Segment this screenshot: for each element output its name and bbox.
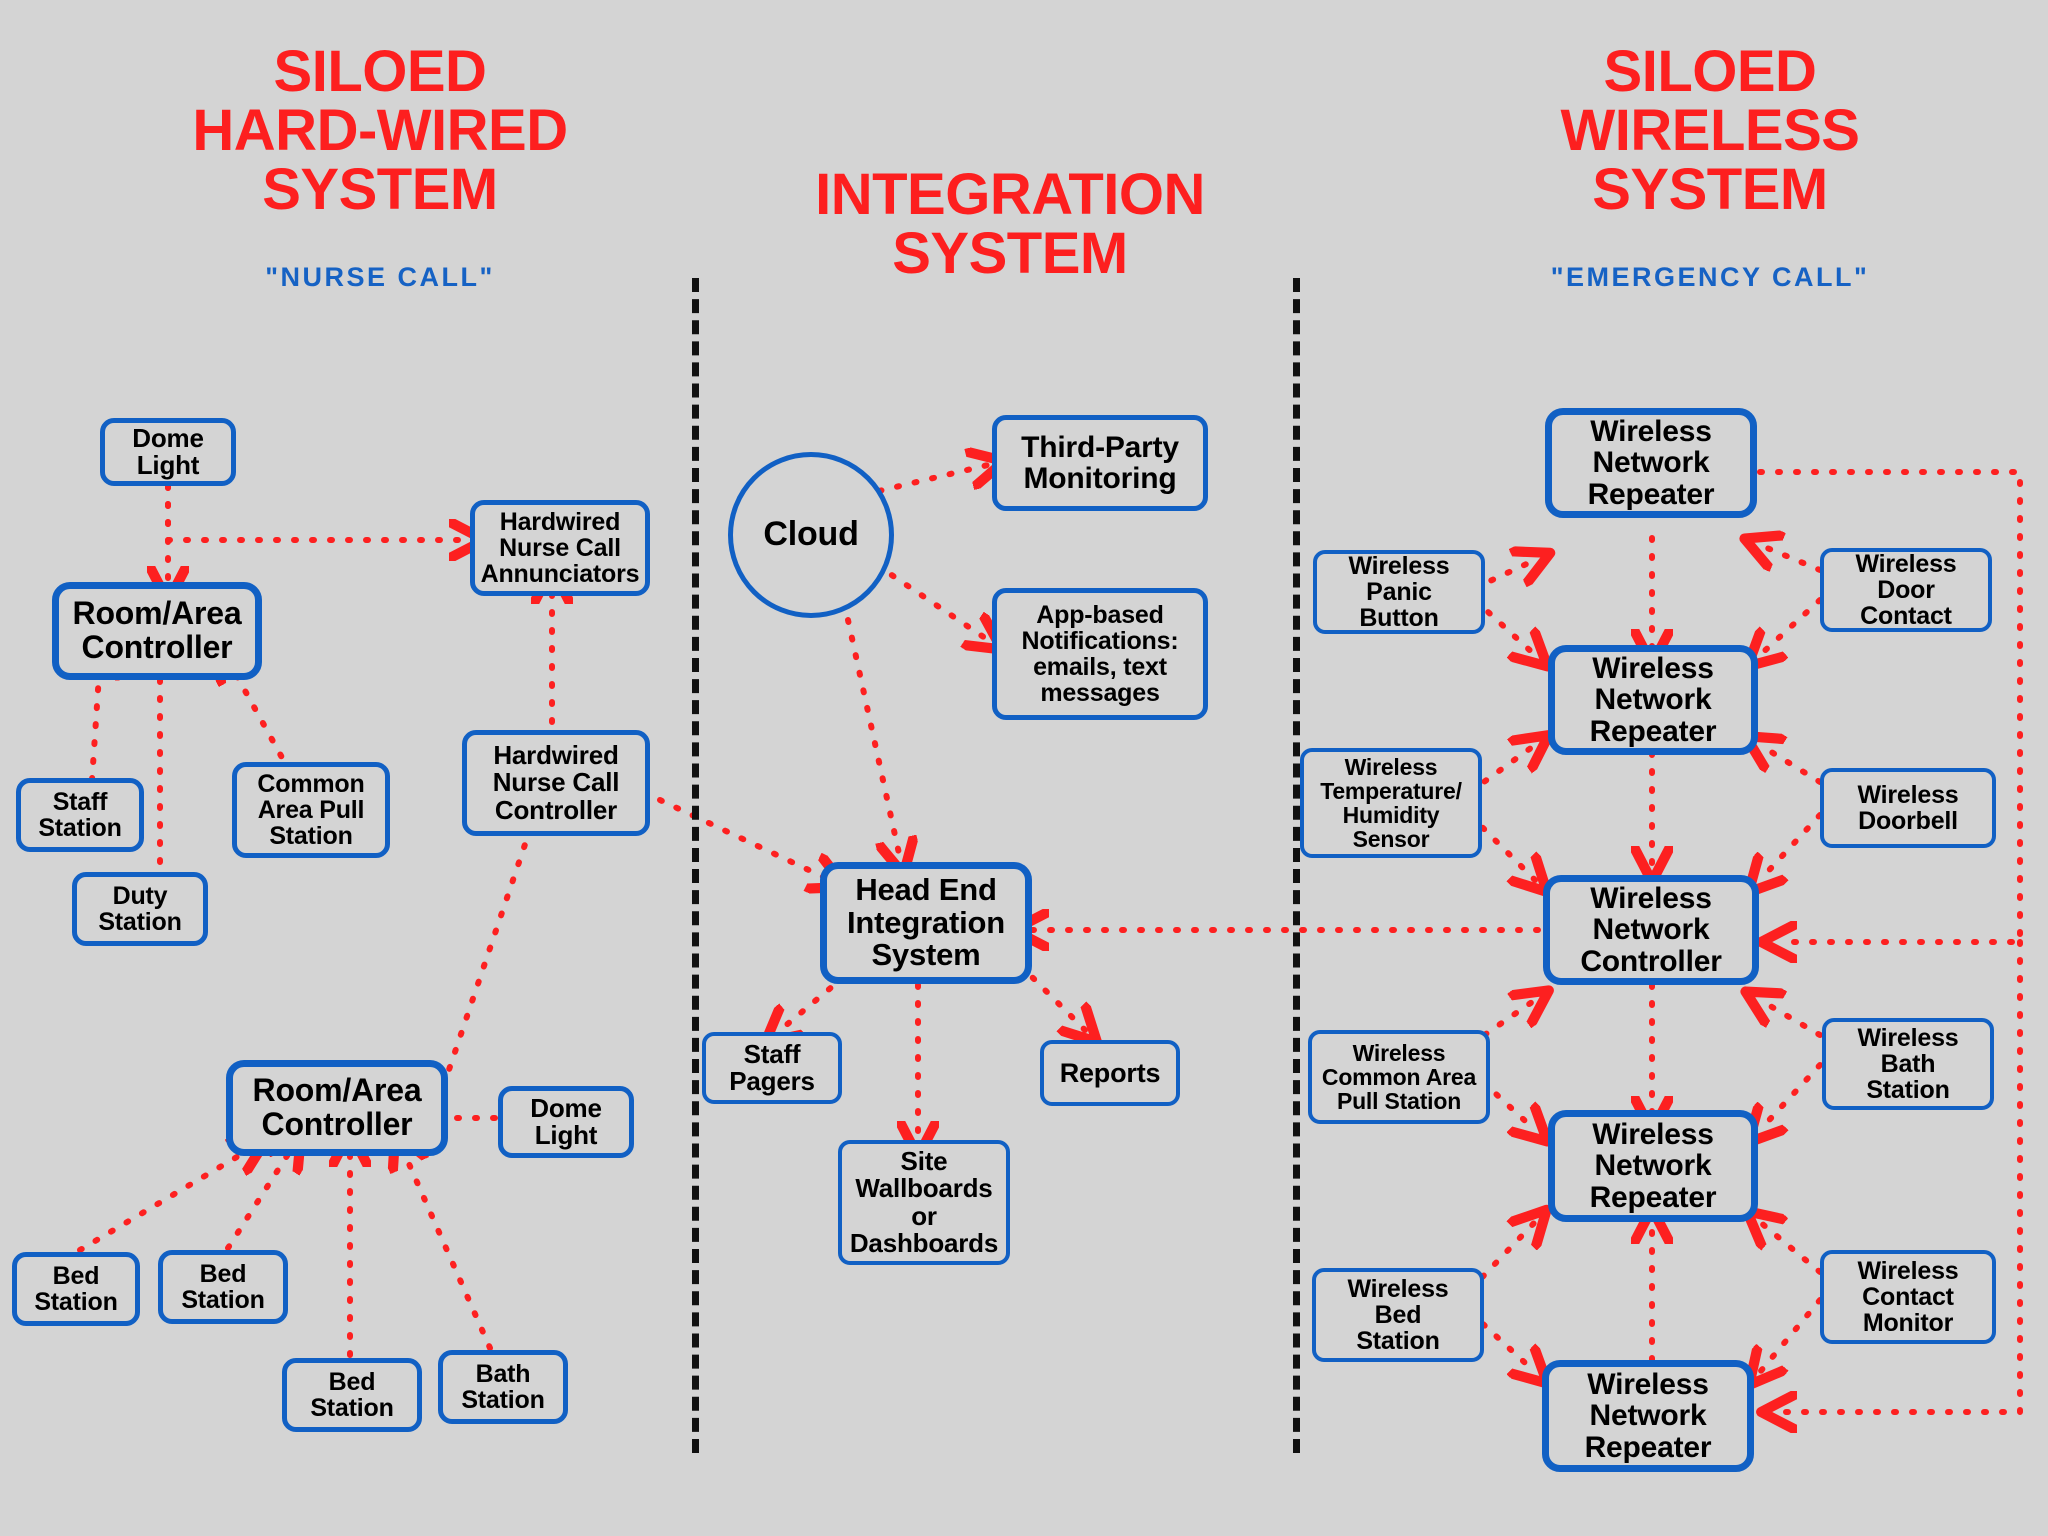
- node-staff-pagers[interactable]: Staff Pagers: [702, 1032, 842, 1104]
- node-reports[interactable]: Reports: [1040, 1040, 1180, 1106]
- wire-loop-repeater1-right: [1760, 472, 2020, 942]
- wire-racbottom-to-hwcontroller: [432, 800, 540, 1120]
- heading-right-system: SILOED WIRELESS SYSTEM: [1410, 42, 2010, 219]
- wire-door-to-repeater2: [1760, 600, 1820, 655]
- node-bed-station-3[interactable]: Bed Station: [282, 1358, 422, 1432]
- node-bed-station-2[interactable]: Bed Station: [158, 1250, 288, 1324]
- node-bath-station[interactable]: Bath Station: [438, 1350, 568, 1424]
- heading-center-system: INTEGRATION SYSTEM: [710, 165, 1310, 283]
- subheading-left-system: "NURSE CALL": [80, 262, 680, 293]
- node-site-wallboards-or-dashboards[interactable]: Site Wallboards or Dashboards: [838, 1140, 1010, 1265]
- node-wireless-temperature-humidity-sensor[interactable]: Wireless Temperature/ Humidity Sensor: [1300, 748, 1482, 858]
- node-hardwired-nurse-call-annunciators[interactable]: Hardwired Nurse Call Annunciators: [470, 500, 650, 596]
- node-room-area-controller-bottom[interactable]: Room/Area Controller: [226, 1060, 448, 1156]
- node-dome-light-top[interactable]: Dome Light: [100, 418, 236, 486]
- wire-bath-to-repeater3: [1760, 1065, 1820, 1130]
- node-staff-station[interactable]: Staff Station: [16, 778, 144, 852]
- wire-monitor-to-repeater4: [1760, 1300, 1820, 1372]
- node-bed-station-1[interactable]: Bed Station: [12, 1252, 140, 1326]
- wire-bed1-to-racbottom: [80, 1148, 252, 1250]
- node-wireless-doorbell[interactable]: Wireless Doorbell: [1820, 768, 1996, 848]
- node-hardwired-nurse-call-controller[interactable]: Hardwired Nurse Call Controller: [462, 730, 650, 836]
- node-third-party-monitoring[interactable]: Third-Party Monitoring: [992, 415, 1208, 511]
- node-app-based-notifications[interactable]: App-based Notifications: emails, text me…: [992, 588, 1208, 720]
- wire-bed2-to-racbottom: [228, 1148, 292, 1248]
- node-wireless-network-repeater-1[interactable]: Wireless Network Repeater: [1545, 408, 1757, 518]
- node-common-area-pull-station[interactable]: Common Area Pull Station: [232, 762, 390, 858]
- wire-headend-to-reports: [1020, 965, 1085, 1030]
- subheading-right-system: "EMERGENCY CALL": [1410, 262, 2010, 293]
- node-wireless-bath-station[interactable]: Wireless Bath Station: [1822, 1018, 1994, 1110]
- node-wireless-network-repeater-4[interactable]: Wireless Network Repeater: [1542, 1360, 1754, 1472]
- node-wireless-door-contact[interactable]: Wireless Door Contact: [1820, 548, 1992, 632]
- divider-right: [1293, 278, 1300, 1453]
- diagram-canvas: SILOED HARD-WIRED SYSTEM "NURSE CALL" IN…: [0, 0, 2048, 1536]
- node-wireless-network-controller[interactable]: Wireless Network Controller: [1543, 875, 1759, 985]
- wire-bath-to-racbottom: [402, 1148, 490, 1348]
- heading-left-system: SILOED HARD-WIRED SYSTEM: [80, 42, 680, 219]
- node-wireless-bed-station[interactable]: Wireless Bed Station: [1312, 1268, 1484, 1362]
- wire-door-to-repeater1: [1760, 545, 1820, 570]
- node-head-end-integration-system[interactable]: Head End Integration System: [820, 862, 1032, 984]
- node-wireless-network-repeater-3[interactable]: Wireless Network Repeater: [1548, 1110, 1758, 1222]
- node-wireless-network-repeater-2[interactable]: Wireless Network Repeater: [1548, 645, 1758, 755]
- node-room-area-controller-top[interactable]: Room/Area Controller: [52, 582, 262, 680]
- wire-doorbell-to-repeater2: [1760, 745, 1820, 782]
- node-wireless-panic-button[interactable]: Wireless Panic Button: [1313, 550, 1485, 634]
- divider-left: [692, 278, 699, 1453]
- wire-monitor-to-repeater3: [1760, 1222, 1820, 1272]
- wire-doorbell-to-controller: [1760, 815, 1820, 880]
- wire-cloud-to-headend: [848, 620, 900, 858]
- node-wireless-contact-monitor[interactable]: Wireless Contact Monitor: [1820, 1250, 1996, 1344]
- node-cloud[interactable]: Cloud: [728, 452, 894, 618]
- wire-bath-to-controller: [1760, 1000, 1820, 1035]
- node-dome-light-bottom[interactable]: Dome Light: [498, 1086, 634, 1158]
- node-wireless-common-area-pull-station[interactable]: Wireless Common Area Pull Station: [1308, 1030, 1490, 1124]
- wire-hwcontroller-to-headend: [660, 800, 830, 880]
- node-duty-station[interactable]: Duty Station: [72, 872, 208, 946]
